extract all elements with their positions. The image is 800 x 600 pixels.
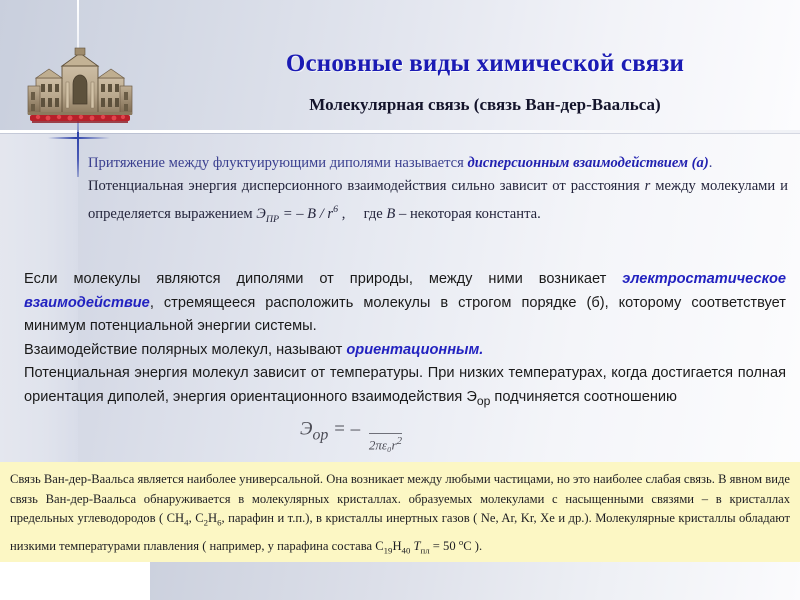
emphasis-dispersion-term: дисперсионным взаимодействием (а)	[467, 155, 708, 171]
formula-methane-ch: CH	[167, 511, 185, 525]
display-formula-fraction: 2πε₀r2	[369, 421, 402, 453]
formula-paraffin: C19H40	[375, 539, 410, 553]
text-seg-4a: Взаимодействие полярных молекул, называю…	[24, 342, 346, 358]
text-seg-2a: Потенциальная энергия дисперсионного вза…	[88, 178, 645, 194]
bottom-grey-band	[150, 562, 800, 600]
text-seg-2d: где	[364, 206, 387, 222]
formula-subscript-pr: ПР	[266, 214, 279, 225]
display-formula-denominator: 2πε₀r2	[369, 433, 402, 453]
text-seg-1a: Притяжение между флуктуирующими диполями…	[88, 155, 467, 171]
paragraph-potential-energy: Потенциальная энергия дисперсионного вза…	[88, 175, 788, 231]
slide-canvas: Основные виды химической связи Молекуляр…	[0, 0, 800, 600]
page-title: Основные виды химической связи	[180, 50, 790, 78]
formula-paraffin-h: H	[392, 539, 401, 553]
paragraph-electrostatic: Если молекулы являются диполями от приро…	[24, 268, 786, 339]
formula-body: = – B / r	[279, 206, 333, 222]
formula-methane: CH4	[167, 511, 189, 525]
text-seg-2e: – некоторая константа.	[395, 206, 540, 222]
university-building-logo-icon	[22, 44, 138, 130]
formula-ethane-c: C	[195, 511, 203, 525]
formula-dispersion-energy: ЭПР = – B / r6	[256, 206, 338, 222]
text-seg-3a: Если молекулы являются диполями от приро…	[24, 271, 622, 287]
header-divider-rule	[0, 130, 800, 133]
paragraph-block-dispersion: Притяжение между флуктуирующими диполями…	[88, 152, 788, 231]
paragraph-block-orientation: Если молекулы являются диполями от приро…	[24, 268, 786, 413]
paragraph-temperature: Потенциальная энергия молекул зависит от…	[24, 362, 786, 413]
paragraph-orientational: Взаимодействие полярных молекул, называю…	[24, 339, 786, 363]
callout-text: Связь Ван-дер-Ваальса является наиболее …	[10, 470, 790, 561]
denominator-exponent: 2	[397, 435, 402, 447]
crosshair-horizontal-line	[48, 137, 110, 139]
formula-ethane-h: H	[208, 511, 217, 525]
display-formula-numerator	[369, 421, 402, 433]
text-seg-2c: ,	[338, 206, 345, 222]
page-subtitle: Молекулярная связь (связь Ван-дер-Ваальс…	[180, 95, 790, 115]
callout-seg-celsius: C ).	[463, 539, 482, 553]
symbol-T-melting: T	[414, 539, 421, 553]
symbol-e-or-sub: ор	[477, 393, 491, 407]
symbol-e-or-main: Э	[466, 389, 477, 405]
formula-orientational-energy: Эор = – 2πε₀r2	[300, 414, 402, 446]
paragraph-dispersion-intro: Притяжение между флуктуирующими диполями…	[88, 152, 788, 175]
display-formula-symbol: Э	[300, 419, 312, 440]
text-seg-5b: подчиняется соотношению	[490, 389, 677, 405]
callout-van-der-waals: Связь Ван-дер-Ваальса является наиболее …	[0, 462, 800, 562]
symbol-B: B	[386, 206, 395, 222]
formula-paraffin-c: C	[375, 539, 383, 553]
denominator-text: 2πε₀r	[369, 437, 397, 452]
formula-paraffin-sub2: 40	[402, 546, 411, 556]
symbol-T-melting-sub: пл	[421, 546, 430, 556]
display-formula-equals: = –	[328, 419, 360, 440]
text-seg-1b: .	[709, 155, 713, 171]
formula-ethane: C2H6	[195, 511, 221, 525]
bottom-white-band	[0, 562, 150, 600]
formula-symbol-e: Э	[256, 206, 266, 222]
callout-seg-eq: = 50	[430, 539, 459, 553]
symbol-e-or: Эор	[466, 389, 490, 405]
emphasis-orientational-term: ориентационным.	[346, 342, 483, 358]
display-formula-subscript: ор	[312, 426, 328, 443]
